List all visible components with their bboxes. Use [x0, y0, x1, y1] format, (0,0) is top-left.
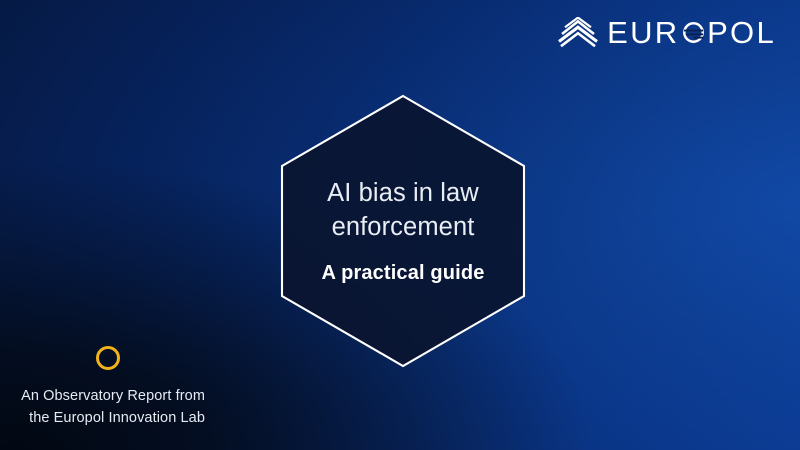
europol-wave-mark-icon [558, 17, 598, 48]
report-source-caption: An Observatory Report from the Europol I… [0, 385, 205, 429]
gold-ring-icon [96, 346, 120, 370]
europol-logo: EUR POL [558, 17, 776, 48]
europol-stylised-o-icon [682, 21, 705, 44]
europol-wordmark-part-2: POL [707, 17, 776, 48]
report-cover-slide: AI bias in law enforcement A practical g… [0, 0, 800, 450]
europol-wordmark: EUR POL [607, 17, 776, 48]
report-source-line-2: the Europol Innovation Lab [0, 407, 205, 429]
page-title: AI bias in law enforcement [296, 177, 511, 244]
europol-wordmark-part-1: EUR [607, 17, 679, 48]
report-source-line-1: An Observatory Report from [0, 385, 205, 407]
title-block: AI bias in law enforcement A practical g… [278, 92, 528, 370]
page-subtitle: A practical guide [322, 261, 485, 285]
